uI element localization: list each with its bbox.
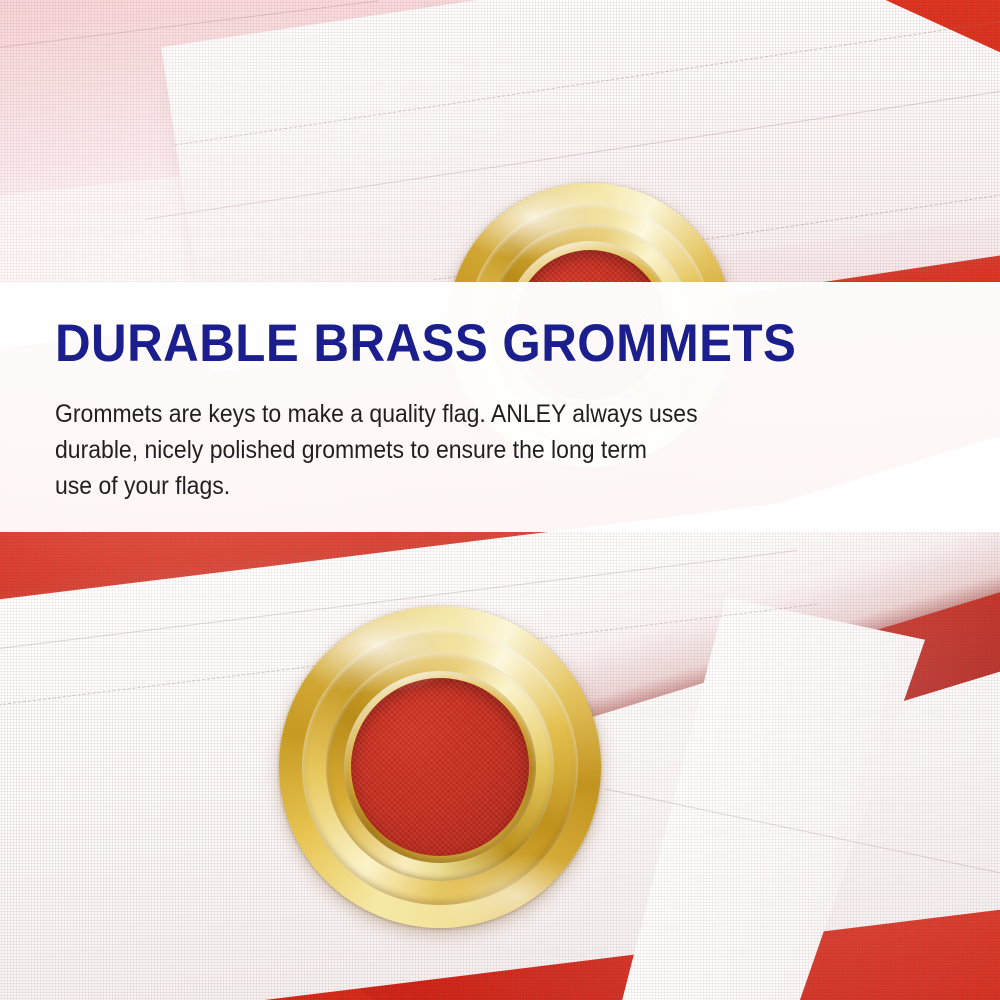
grommet-bottom-hole-weave — [351, 678, 529, 856]
grommet-bottom — [279, 606, 601, 928]
description-line-1: Grommets are keys to make a quality flag… — [55, 396, 698, 432]
description-line-2: durable, nicely polished grommets to ens… — [55, 432, 698, 468]
page-title: DURABLE BRASS GROMMETS — [55, 317, 796, 370]
description-text: Grommets are keys to make a quality flag… — [55, 396, 698, 504]
description-line-3: use of your flags. — [55, 468, 698, 504]
grommet-bottom-hole — [351, 678, 529, 856]
product-feature-image: DURABLE BRASS GROMMETS Grommets are keys… — [0, 0, 1000, 1000]
